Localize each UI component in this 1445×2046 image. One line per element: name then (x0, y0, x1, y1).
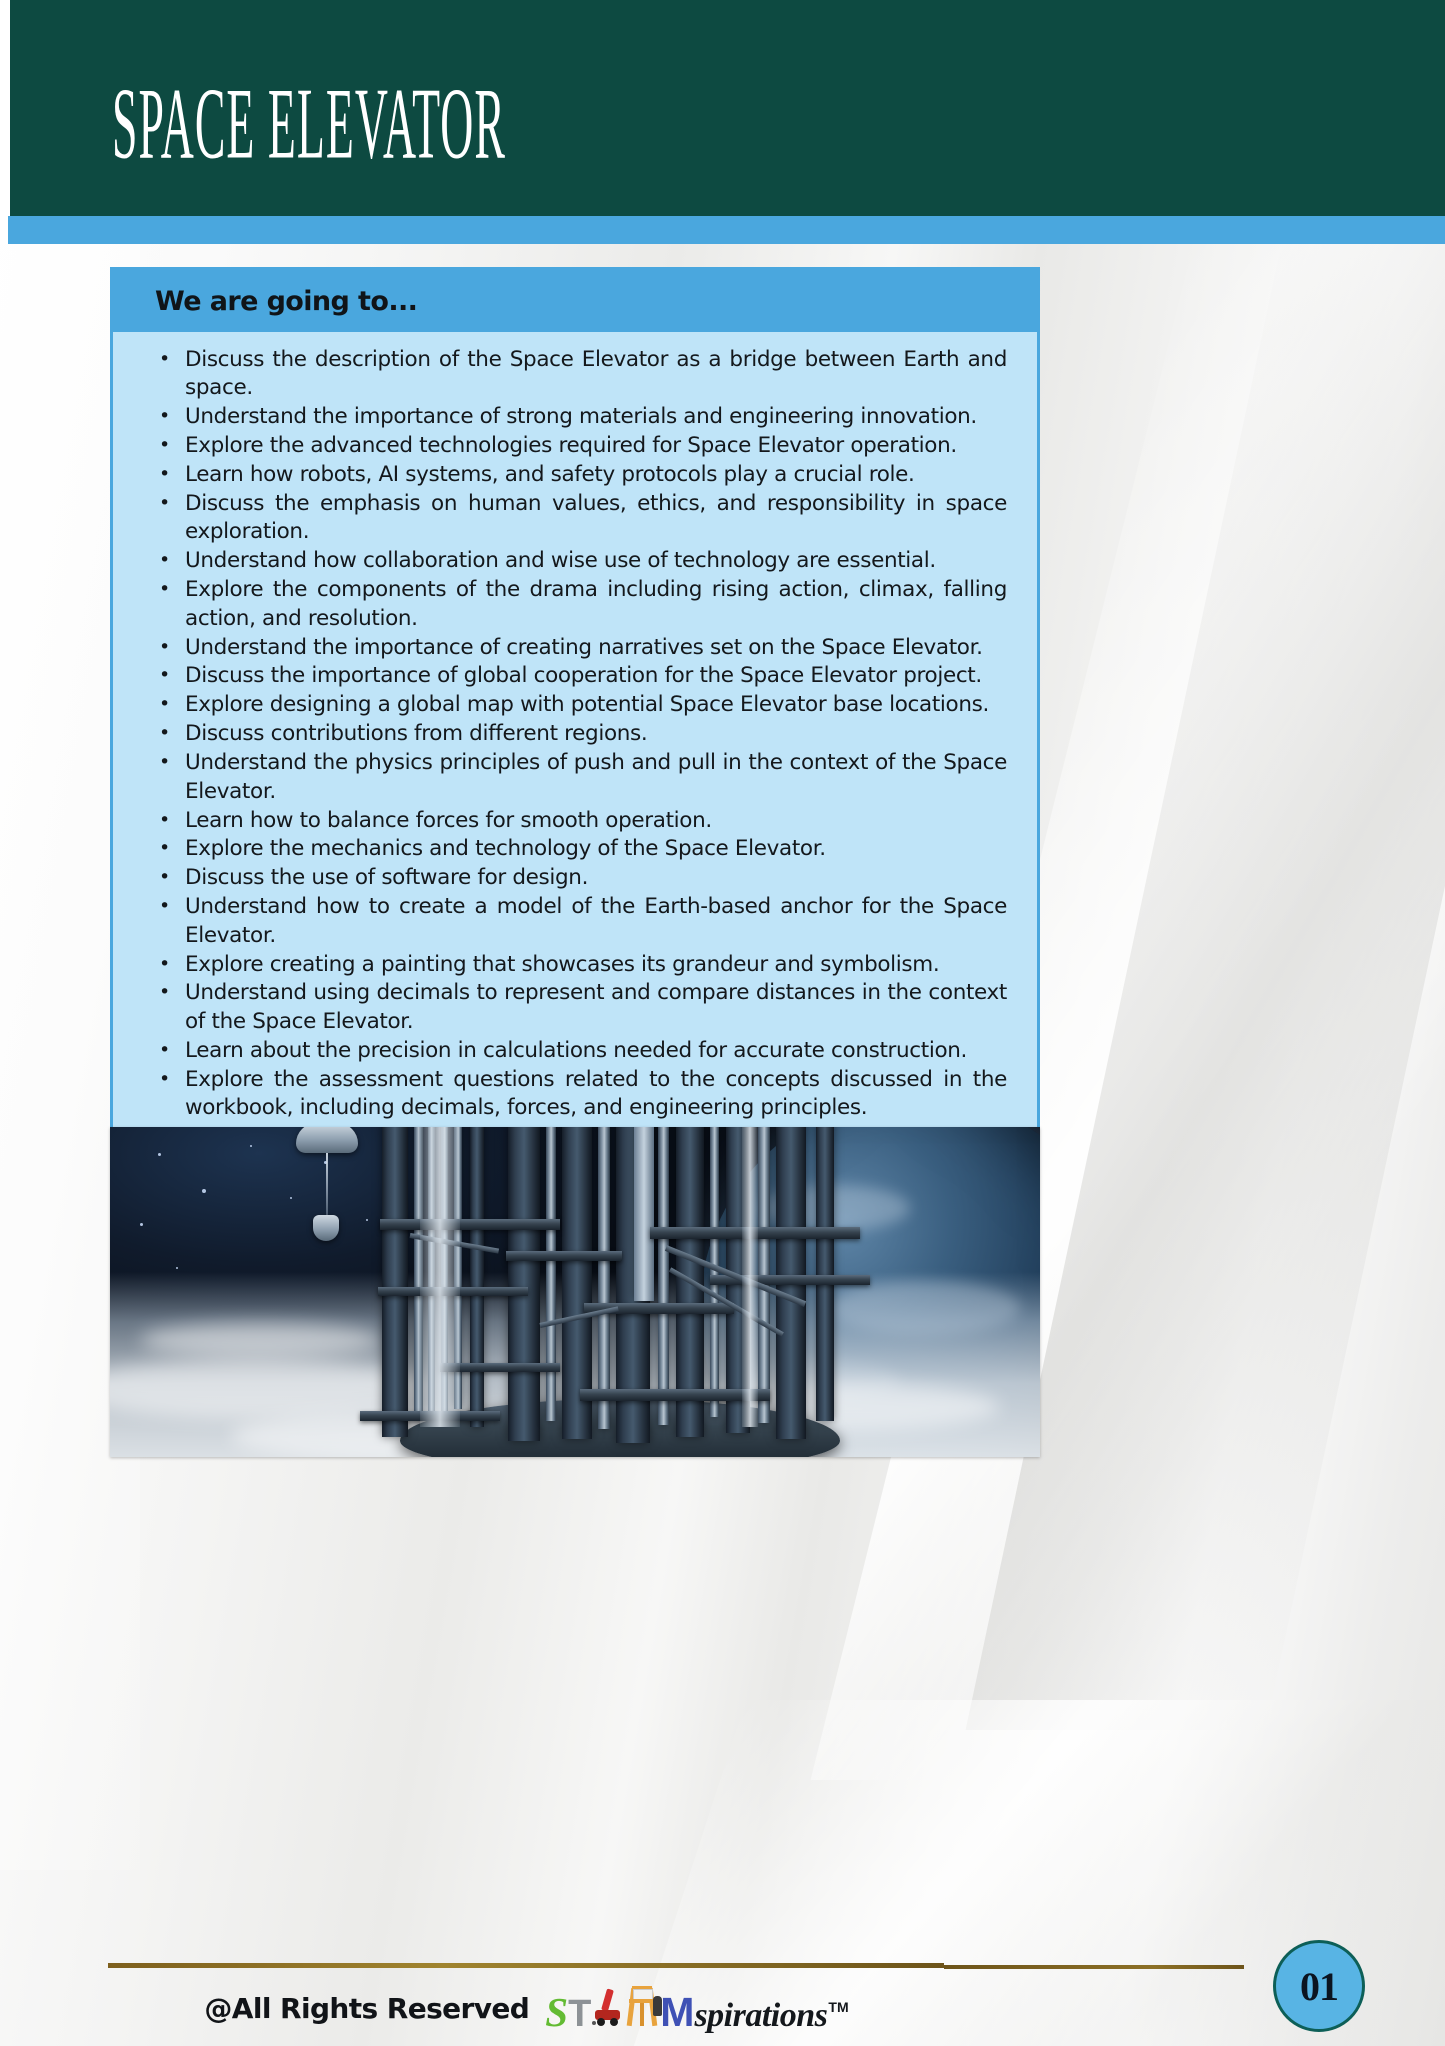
tower-column (382, 1127, 408, 1437)
objectives-heading: We are going to... (155, 286, 417, 317)
star-icon (290, 1197, 292, 1199)
objective-item: Understand how to create a model of the … (185, 893, 1009, 950)
star-icon (366, 1219, 368, 1221)
objective-item: Explore the assessment questions related… (185, 1066, 1009, 1123)
objective-item: Discuss the description of the Space Ele… (185, 346, 1009, 403)
objective-item: Explore designing a global map with pote… (185, 691, 1009, 719)
header-left-edge (0, 0, 10, 216)
page-number: 01 (1300, 1963, 1338, 2010)
star-icon (202, 1189, 206, 1193)
star-icon (140, 1223, 143, 1226)
star-icon (176, 1267, 178, 1269)
cloud-band (140, 1323, 380, 1357)
platform-deck (380, 1219, 560, 1230)
header-accent-stripe (0, 216, 1445, 244)
objective-item: Learn how to balance forces for smooth o… (185, 807, 1009, 835)
pod-tether (326, 1153, 328, 1219)
footer-divider-right (944, 1965, 1244, 1969)
space-elevator-image (110, 1127, 1040, 1457)
objective-item: Explore the advanced technologies requir… (185, 432, 1009, 460)
guide-rail (420, 1127, 460, 1427)
objective-item: Explore the mechanics and technology of … (185, 835, 1009, 863)
steamspirations-logo: S T M spirations TM (545, 1984, 847, 2033)
objectives-card-header: We are going to... (113, 270, 1037, 332)
orbital-pod (296, 1127, 358, 1153)
tower-column (816, 1127, 834, 1421)
logo-letter-m: M (660, 1992, 694, 2033)
workbook-page: SPACE ELEVATOR We are going to... Discus… (0, 0, 1445, 2046)
tower-column (508, 1127, 540, 1441)
platform-deck (506, 1251, 622, 1261)
tower-column (546, 1127, 556, 1421)
copyright-text: @All Rights Reserved (204, 1992, 529, 2025)
objective-item: Learn how robots, AI systems, and safety… (185, 461, 1009, 489)
tower-column (598, 1127, 610, 1429)
tower-column (658, 1127, 669, 1425)
objectives-card: We are going to... Discuss the descripti… (110, 267, 1040, 1148)
objective-item: Discuss the use of software for design. (185, 864, 1009, 892)
footer-divider (108, 1963, 944, 1968)
logo-letter-t: T (568, 1995, 591, 2033)
robot-icon (591, 1988, 624, 2026)
star-icon (158, 1153, 161, 1156)
descending-capsule (313, 1215, 339, 1241)
objective-item: Explore creating a painting that showcas… (185, 951, 1009, 979)
objective-item: Discuss the importance of global coopera… (185, 662, 1009, 690)
objective-item: Understand using decimals to represent a… (185, 979, 1009, 1036)
logo-letter-s: S (545, 1992, 568, 2033)
page-number-badge: 01 (1273, 1940, 1365, 2032)
objectives-card-body: Discuss the description of the Space Ele… (113, 332, 1037, 1145)
objective-item: Understand the importance of strong mate… (185, 403, 1009, 431)
objective-item: Understand the importance of creating na… (185, 634, 1009, 662)
paintbrush-icon (653, 1996, 662, 2016)
objective-item: Discuss the emphasis on human values, et… (185, 490, 1009, 547)
trademark-mark: TM (828, 2000, 848, 2014)
star-icon (250, 1145, 252, 1147)
guide-rail (742, 1127, 758, 1427)
objective-item: Understand how collaboration and wise us… (185, 547, 1009, 575)
objective-item: Explore the components of the drama incl… (185, 576, 1009, 633)
page-title: SPACE ELEVATOR (112, 74, 506, 176)
objective-item: Understand the physics principles of pus… (185, 749, 1009, 806)
objective-item: Discuss contributions from different reg… (185, 720, 1009, 748)
logo-wordmark: spirations (694, 1999, 827, 2033)
central-shaft (634, 1127, 654, 1301)
header-accent-stripe-cap (0, 216, 8, 244)
objective-item: Learn about the precision in calculation… (185, 1037, 1009, 1065)
footer: @All Rights Reserved S T M spirations TM (108, 1983, 944, 2033)
objectives-list: Discuss the description of the Space Ele… (141, 346, 1009, 1122)
tower-column (470, 1127, 484, 1427)
